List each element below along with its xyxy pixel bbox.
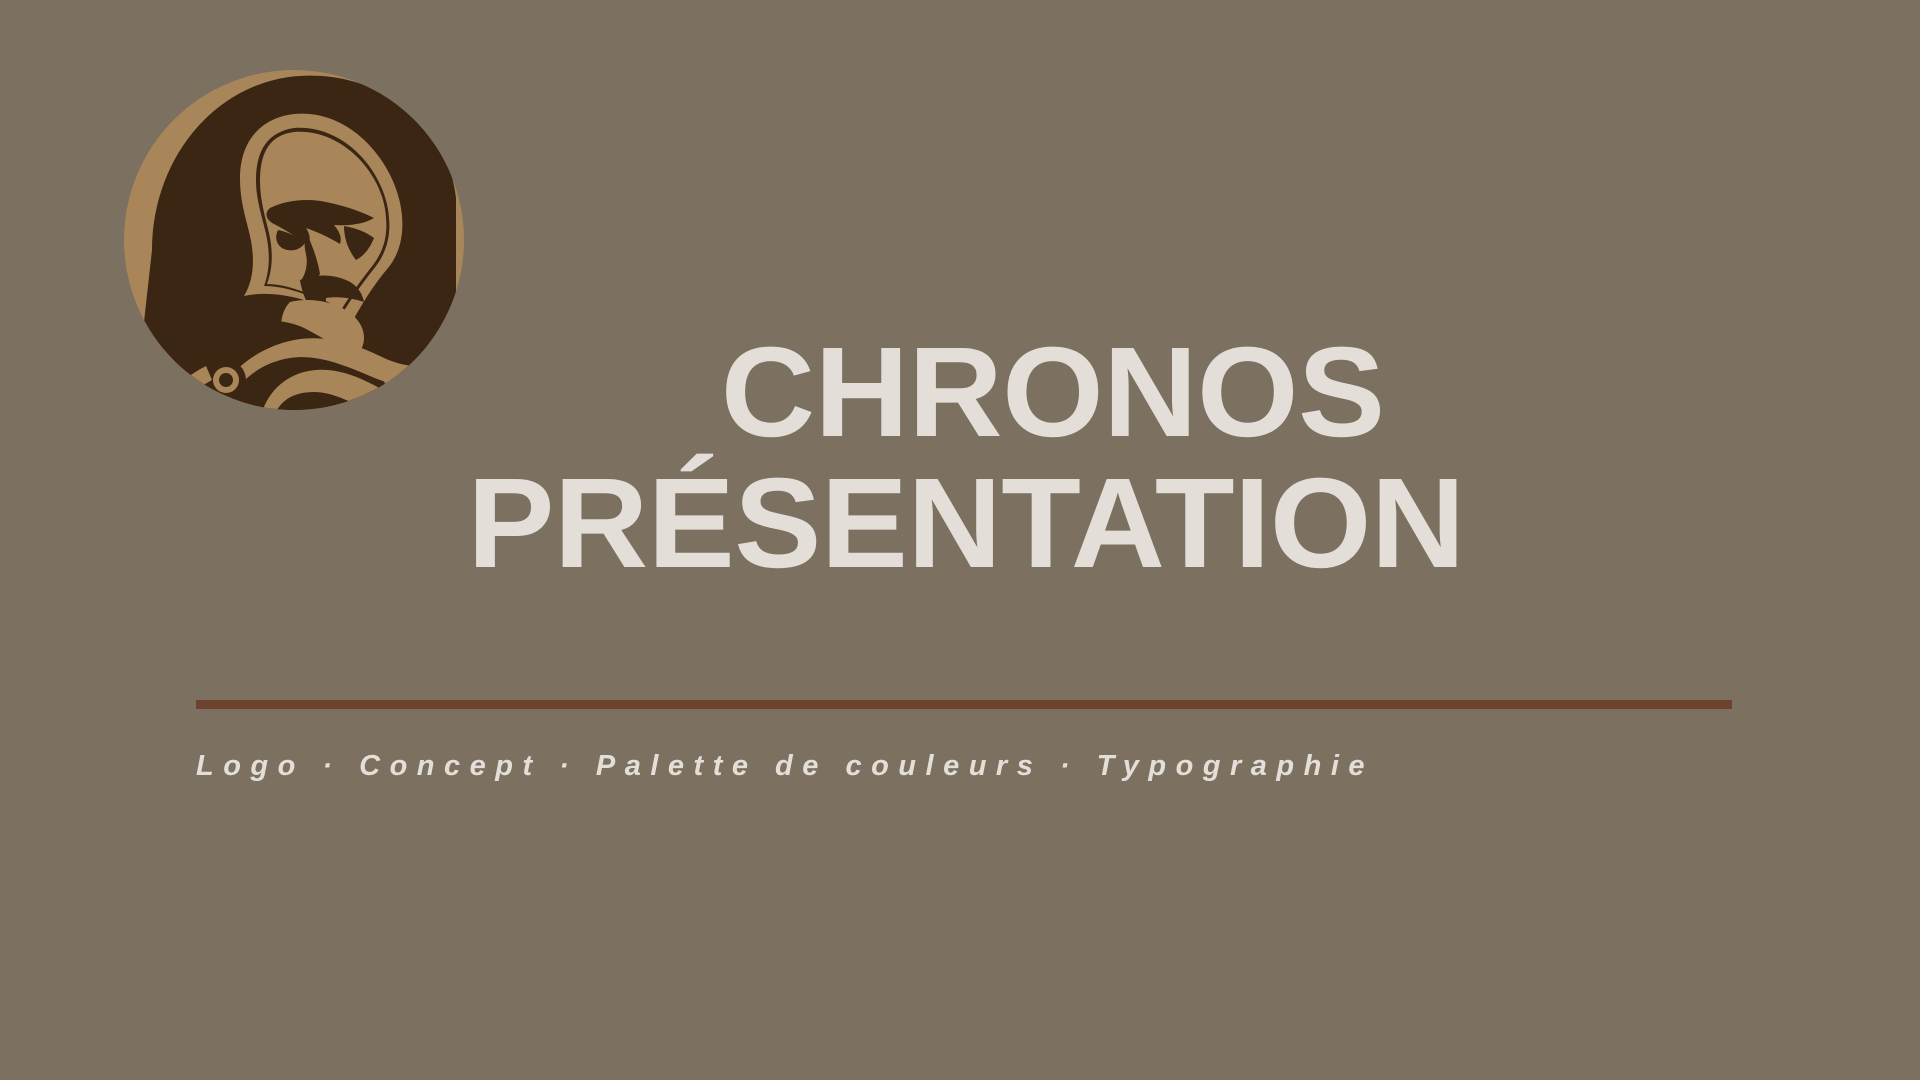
- presentation-slide: CHRONOS PRÉSENTATION Logo · Concept · Pa…: [0, 0, 1920, 1080]
- agenda-subtitle: Logo · Concept · Palette de couleurs · T…: [196, 750, 1736, 783]
- title-divider-rule: [196, 700, 1732, 709]
- title-line-secondary: PRÉSENTATION: [181, 461, 1752, 586]
- title-line-primary: CHRONOS: [181, 330, 1752, 455]
- slide-title-block: CHRONOS PRÉSENTATION: [196, 330, 1736, 587]
